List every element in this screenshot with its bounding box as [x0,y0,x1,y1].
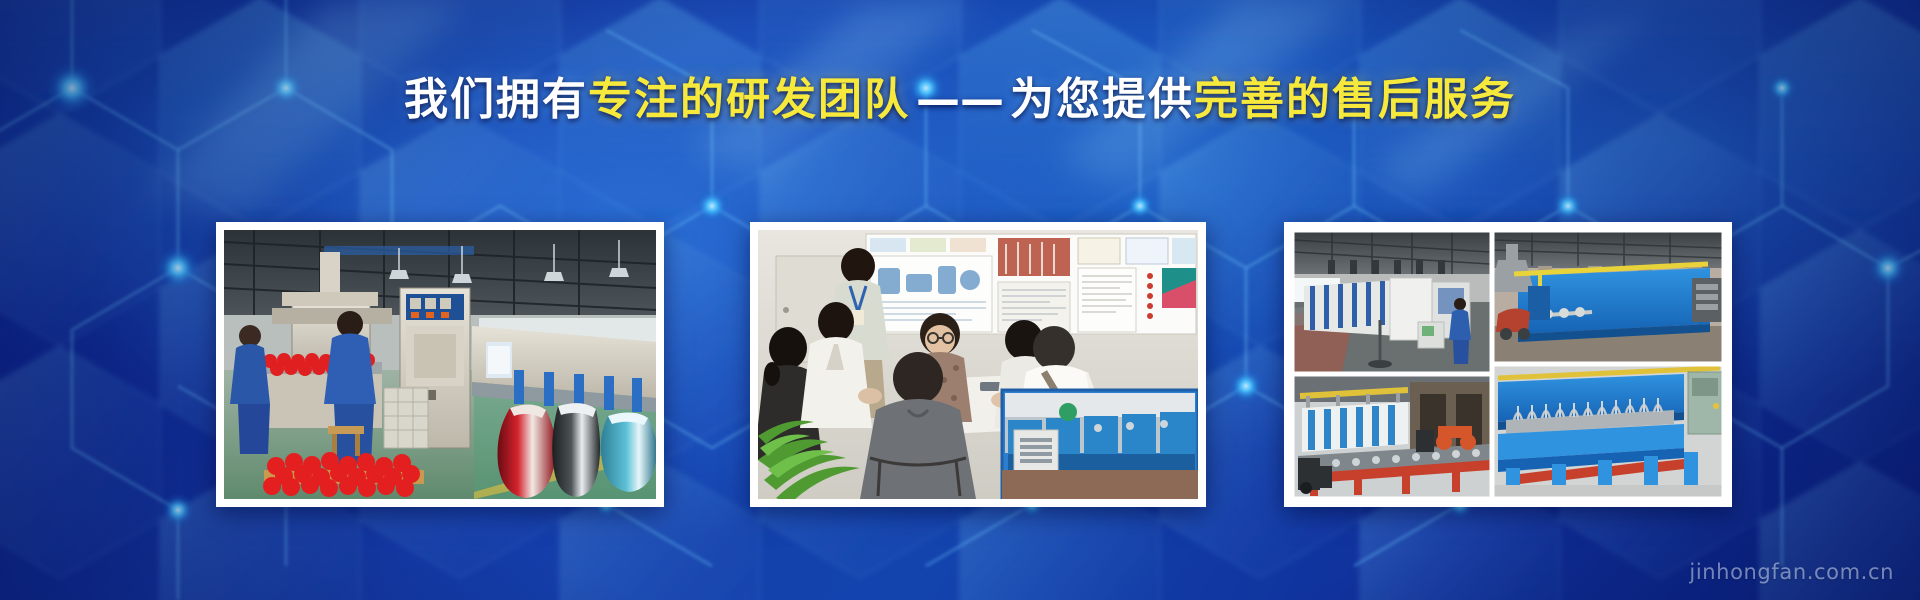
headline-container: 我们拥有专注的研发团队——为您提供完善的售后服务 [0,78,1920,122]
headline-dash-separator: —— [910,74,1010,125]
headline-segment-white-1: 我们拥有 [404,74,588,125]
photo-gallery [0,222,1920,507]
photo-panel-production-line[interactable] [216,222,664,507]
promo-banner: 我们拥有专注的研发团队——为您提供完善的售后服务 [0,0,1920,600]
headline-segment-white-2: 为您提供 [1010,74,1194,125]
photo-customer-meeting [758,230,1198,499]
photo-panel-customer-meeting[interactable] [750,222,1206,507]
photo-production-line [224,230,656,499]
headline-segment-yellow-2: 完善的售后服务 [1194,74,1516,125]
site-watermark: jinhongfan.com.cn [1689,560,1894,584]
page-title: 我们拥有专注的研发团队——为您提供完善的售后服务 [404,78,1516,122]
photo-panel-equipment-collage[interactable] [1284,222,1732,507]
headline-segment-yellow-1: 专注的研发团队 [588,74,910,125]
photo-equipment-collage [1292,230,1724,499]
